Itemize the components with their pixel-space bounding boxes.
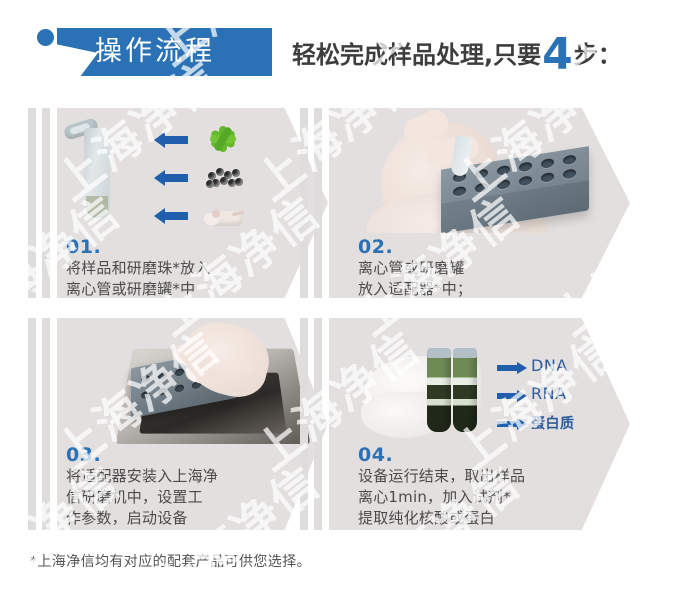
- watermark-text: 上海净信: [240, 583, 432, 592]
- watermark-text: 上海净信: [440, 583, 632, 592]
- arrow-left-icon: [154, 208, 188, 224]
- footnote-text: *上海净信均有对应的配套产品可供您选择。: [30, 551, 311, 571]
- adapter-hole: [497, 165, 510, 176]
- tube-liquid: [86, 196, 108, 218]
- step-number: 04.: [358, 444, 393, 466]
- adapter-hole: [453, 186, 466, 197]
- sample-tube-icon: [453, 354, 477, 432]
- adapter-hole: [475, 168, 488, 179]
- step-number: 03.: [66, 444, 101, 466]
- step-caption: 将样品和研磨珠*放入 离心管或研磨罐*中: [66, 258, 296, 300]
- side-bar-outer: [300, 318, 308, 530]
- card-side-bars: [28, 108, 58, 298]
- arrow-left-icon: [154, 132, 188, 148]
- side-bar-inner: [314, 108, 322, 298]
- step-number: 02.: [358, 236, 393, 258]
- adapter-hole: [175, 368, 184, 377]
- adapter-hole: [158, 371, 167, 380]
- mouse-sample-icon: [204, 206, 244, 228]
- watermark-text: 上海净信: [640, 583, 676, 592]
- watermark-text: 上海净信: [40, 583, 232, 592]
- headline-step-count: 4: [541, 29, 574, 80]
- step-number: 01.: [66, 236, 101, 258]
- side-bar-outer: [28, 318, 36, 530]
- headline-suffix: 步：: [574, 41, 622, 69]
- arrow-right-icon: [497, 390, 527, 402]
- mouse-ear: [212, 210, 220, 218]
- adapter-hole: [175, 384, 184, 393]
- adapter-hole: [563, 154, 576, 165]
- arrow-right-icon: [497, 362, 527, 374]
- card-side-bars: [300, 108, 330, 298]
- sample-tube-icon: [427, 354, 451, 432]
- step-card-04: DNA RNA 蛋白质 04. 设备运行结束，取出样品 离心1min，加入试剂*…: [300, 318, 630, 530]
- watermark-text: 上海净信: [640, 313, 676, 483]
- output-label-dna: DNA: [531, 356, 568, 375]
- tube-cap-icon: [427, 348, 451, 358]
- header: 操作流程 轻松完成样品处理,只要4步：: [0, 0, 676, 96]
- side-bar-inner: [42, 108, 50, 298]
- step-card-02: 02. 离心管或研磨罐 放入适配器*中；: [300, 108, 630, 298]
- adapter-hole: [541, 158, 554, 169]
- watermark-text: 上海净信: [0, 583, 32, 592]
- adapter-hole: [497, 179, 510, 190]
- adapter-hole: [475, 182, 488, 193]
- arrow-right-icon: [497, 418, 527, 430]
- step-caption: 设备运行结束，取出样品 离心1min，加入试剂* 提取纯化核酸或蛋白: [358, 466, 608, 529]
- step-illustration: DNA RNA 蛋白质: [329, 318, 630, 446]
- side-bar-inner: [42, 318, 50, 530]
- side-bar-outer: [300, 108, 308, 298]
- adapter-hole: [563, 168, 576, 179]
- card-side-bars: [300, 318, 330, 530]
- page-headline: 轻松完成样品处理,只要4步：: [292, 38, 622, 72]
- adapter-hole: [541, 172, 554, 183]
- step-card-03: 03. 将适配器安装入上海净 信研磨机中，设置工 作参数，启动设备: [28, 318, 328, 530]
- output-label-protein: 蛋白质: [531, 413, 575, 433]
- output-label-rna: RNA: [531, 384, 567, 403]
- section-banner-label: 操作流程: [95, 35, 255, 69]
- step-illustration: [329, 108, 630, 233]
- side-bar-inner: [314, 318, 322, 530]
- step-card-01: 01. 将样品和研磨珠*放入 离心管或研磨罐*中: [28, 108, 328, 298]
- grinding-beads-icon: [206, 166, 242, 190]
- adapter-hole: [519, 161, 532, 172]
- adapter-hole: [158, 387, 167, 396]
- header-accent-dot: [37, 29, 54, 46]
- adapter-hole: [141, 375, 150, 384]
- step-illustration: [57, 318, 328, 444]
- step-caption: 离心管或研磨罐 放入适配器*中；: [358, 258, 588, 300]
- centrifuge-tube-icon: [84, 128, 110, 220]
- arrow-left-icon: [154, 170, 188, 186]
- tube-cap-icon: [453, 348, 477, 358]
- adapter-hole: [141, 391, 150, 400]
- adapter-hole: [519, 175, 532, 186]
- step-caption: 将适配器安装入上海净 信研磨机中，设置工 作参数，启动设备: [66, 466, 302, 529]
- side-bar-outer: [28, 108, 36, 298]
- plant-sample-icon: [206, 124, 240, 154]
- headline-prefix: 轻松完成样品处理,只要: [292, 41, 541, 69]
- card-side-bars: [28, 318, 58, 530]
